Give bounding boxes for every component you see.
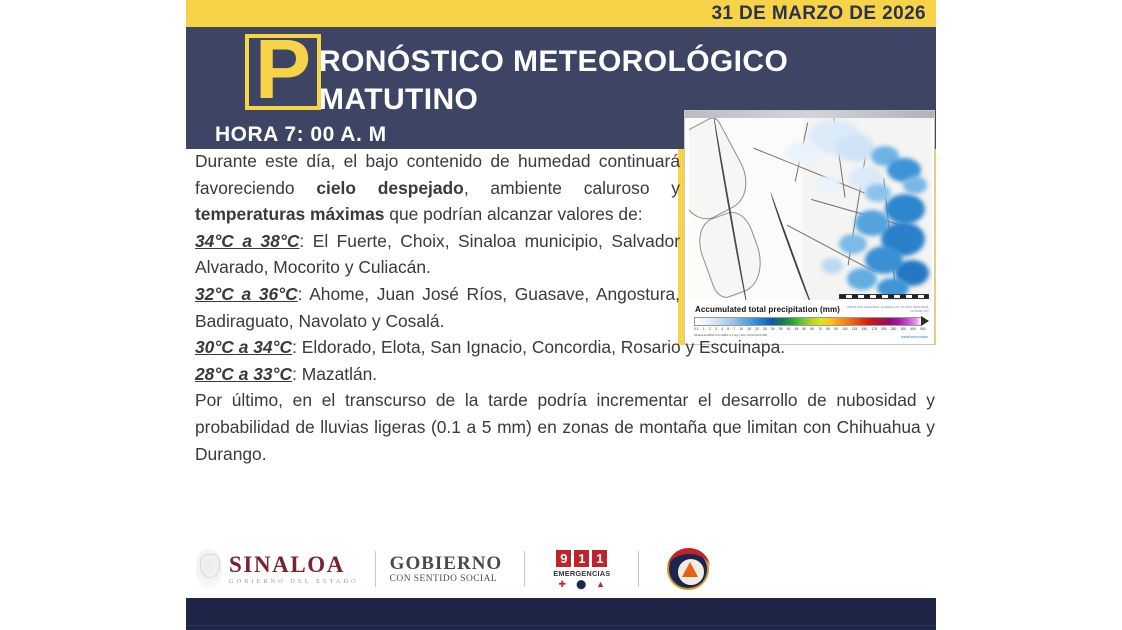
footer: SINALOA GOBIERNO DEL ESTADO GOBIERNO CON…	[186, 540, 936, 598]
gobierno-logo: GOBIERNO CON SENTIDO SOCIAL	[376, 553, 525, 585]
intro-bold-1: cielo despejado	[316, 178, 463, 198]
emergency-digit: 1	[592, 550, 607, 567]
police-icon: ⬤	[576, 580, 586, 589]
intro-text-3: que podrían alcanzar valores de:	[384, 204, 642, 224]
sinaloa-logo: SINALOA GOBIERNO DEL ESTADO	[196, 549, 375, 589]
medical-cross-icon: ✚	[559, 580, 567, 589]
sinaloa-name: SINALOA	[229, 553, 359, 577]
emergency-digit: 9	[556, 550, 571, 567]
gobierno-line1: GOBIERNO	[390, 553, 503, 574]
intro-bold-2: temperaturas máximas	[195, 204, 384, 224]
temp-range-places: : Eldorado, Elota, San Ignacio, Concordi…	[292, 337, 785, 357]
temp-range-value: 34°C a 38°C	[195, 231, 299, 251]
bottom-bar	[186, 598, 936, 630]
fire-icon: ▲	[596, 580, 605, 589]
logo-p-box: P	[245, 34, 321, 110]
page-title: RONÓSTICO METEOROLÓGICO MATUTINO	[319, 43, 919, 119]
temp-range-value: 32°C a 36°C	[195, 284, 298, 304]
forecast-body: Durante este día, el bajo contenido de h…	[195, 148, 935, 467]
sinaloa-crest-icon	[196, 549, 222, 589]
map-titlebar	[685, 111, 934, 118]
emergency-label: EMERGENCIAS	[553, 569, 610, 578]
logo-p-letter: P	[249, 27, 317, 111]
temp-range-row: 30°C a 34°C: Eldorado, Elota, San Ignaci…	[195, 334, 935, 361]
emergency-digit: 1	[574, 550, 589, 567]
date-text: 31 DE MARZO DE 2026	[711, 3, 926, 25]
proteccion-civil-logo	[667, 548, 709, 590]
temp-range-value: 28°C a 33°C	[195, 364, 292, 384]
screenshot-stage: 31 DE MARZO DE 2026 P RONÓSTICO METEOROL…	[0, 0, 1122, 630]
temp-range-row: 28°C a 33°C: Mazatlán.	[195, 361, 935, 388]
intro-paragraph: Durante este día, el bajo contenido de h…	[195, 148, 680, 228]
sinaloa-subtitle: GOBIERNO DEL ESTADO	[229, 577, 359, 586]
temp-range-places: : Mazatlán.	[292, 364, 377, 384]
temp-range-value: 30°C a 34°C	[195, 337, 292, 357]
forecast-hour: HORA 7: 00 A. M	[215, 123, 387, 147]
temp-range-row: 32°C a 36°C: Ahome, Juan José Ríos, Guas…	[195, 281, 680, 334]
temp-range-row: 34°C a 38°C: El Fuerte, Choix, Sinaloa m…	[195, 228, 680, 281]
intro-text-2: , ambiente caluroso y	[464, 178, 680, 198]
emergency-911-logo: 9 1 1 EMERGENCIAS ✚ ⬤ ▲	[525, 550, 638, 589]
gobierno-line2: CON SENTIDO SOCIAL	[390, 574, 503, 585]
forecast-card: 31 DE MARZO DE 2026 P RONÓSTICO METEOROL…	[186, 0, 936, 630]
bottom-bar-accent-line	[186, 625, 936, 626]
closing-paragraph: Por último, en el transcurso de la tarde…	[195, 387, 935, 467]
emergency-digits: 9 1 1	[553, 550, 610, 567]
proteccion-civil-triangle-icon	[682, 562, 698, 577]
sinaloa-wordmark: SINALOA GOBIERNO DEL ESTADO	[229, 553, 359, 586]
footer-divider	[638, 551, 639, 587]
emergency-service-icons: ✚ ⬤ ▲	[553, 580, 610, 589]
